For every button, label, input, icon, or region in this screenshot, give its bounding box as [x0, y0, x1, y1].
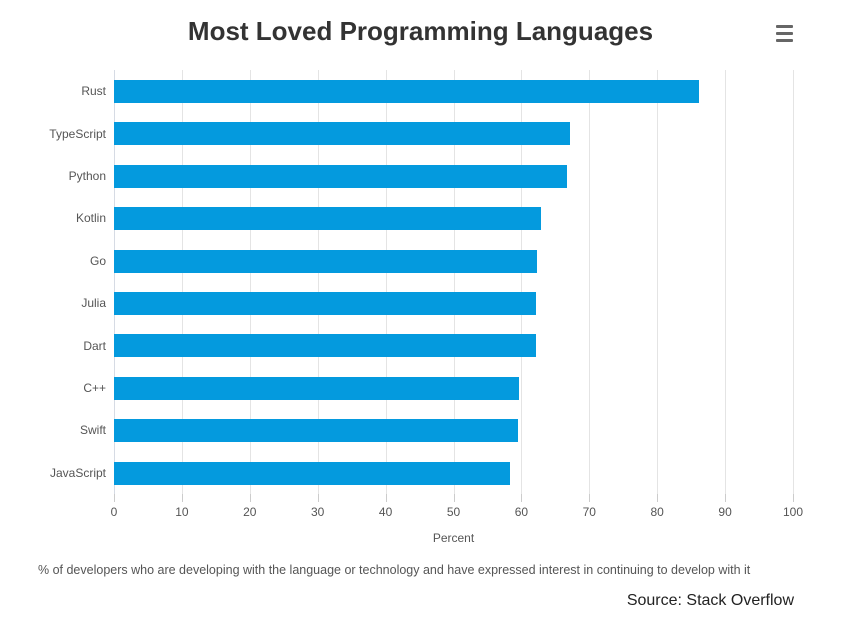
bar-cpp[interactable]	[114, 377, 519, 400]
x-tick-mark-80	[657, 494, 658, 502]
bar-typescript[interactable]	[114, 122, 570, 145]
bar-row	[114, 452, 793, 495]
bar-row	[114, 240, 793, 283]
bar-row	[114, 155, 793, 198]
bar-javascript[interactable]	[114, 462, 510, 485]
hamburger-menu-icon[interactable]	[771, 20, 797, 46]
y-axis-label-python: Python	[0, 168, 106, 184]
bar-row	[114, 367, 793, 410]
x-tick-mark-0	[114, 494, 115, 502]
x-tick-label-30: 30	[298, 505, 338, 519]
x-tick-mark-60	[521, 494, 522, 502]
menu-line	[776, 32, 793, 35]
x-tick-label-60: 60	[501, 505, 541, 519]
menu-line	[776, 25, 793, 28]
bar-row	[114, 197, 793, 240]
x-tick-mark-40	[386, 494, 387, 502]
x-tick-label-20: 20	[230, 505, 270, 519]
page-title: Most Loved Programming Languages	[0, 16, 841, 47]
bar-row	[114, 112, 793, 155]
bar-python[interactable]	[114, 165, 567, 188]
x-tick-mark-10	[182, 494, 183, 502]
y-axis-label-julia: Julia	[0, 295, 106, 311]
x-tick-mark-20	[250, 494, 251, 502]
x-tick-label-0: 0	[94, 505, 134, 519]
bar-kotlin[interactable]	[114, 207, 541, 230]
y-axis-label-rust: Rust	[0, 83, 106, 99]
bar-row	[114, 70, 793, 113]
x-tick-mark-90	[725, 494, 726, 502]
y-axis-label-go: Go	[0, 253, 106, 269]
x-tick-mark-100	[793, 494, 794, 502]
chart-source: Source: Stack Overflow	[38, 592, 794, 610]
y-axis-label-cpp: C++	[0, 380, 106, 396]
x-tick-label-80: 80	[637, 505, 677, 519]
x-tick-mark-70	[589, 494, 590, 502]
y-axis-labels: RustTypeScriptPythonKotlinGoJuliaDartC++…	[0, 70, 106, 494]
y-axis-label-typescript: TypeScript	[0, 126, 106, 142]
bar-row	[114, 324, 793, 367]
x-tick-mark-30	[318, 494, 319, 502]
chart-header: Most Loved Programming Languages	[0, 0, 841, 66]
x-tick-label-50: 50	[434, 505, 474, 519]
gridline-100	[793, 70, 794, 494]
bar-julia[interactable]	[114, 292, 536, 315]
x-tick-label-10: 10	[162, 505, 202, 519]
bar-row	[114, 409, 793, 452]
y-axis-label-javascript: JavaScript	[0, 465, 106, 481]
y-axis-label-swift: Swift	[0, 422, 106, 438]
bars-layer	[114, 70, 793, 494]
x-tick-label-70: 70	[569, 505, 609, 519]
menu-line	[776, 39, 793, 42]
x-tick-label-40: 40	[366, 505, 406, 519]
bar-swift[interactable]	[114, 419, 518, 442]
y-axis-label-kotlin: Kotlin	[0, 210, 106, 226]
plot-area	[114, 70, 793, 494]
chart-caption: % of developers who are developing with …	[38, 561, 794, 580]
bar-go[interactable]	[114, 250, 537, 273]
bar-rust[interactable]	[114, 80, 699, 103]
x-axis-title: Percent	[114, 531, 793, 545]
x-tick-label-100: 100	[773, 505, 813, 519]
bar-dart[interactable]	[114, 334, 536, 357]
x-tick-label-90: 90	[705, 505, 745, 519]
bar-row	[114, 282, 793, 325]
x-tick-mark-50	[454, 494, 455, 502]
y-axis-label-dart: Dart	[0, 338, 106, 354]
